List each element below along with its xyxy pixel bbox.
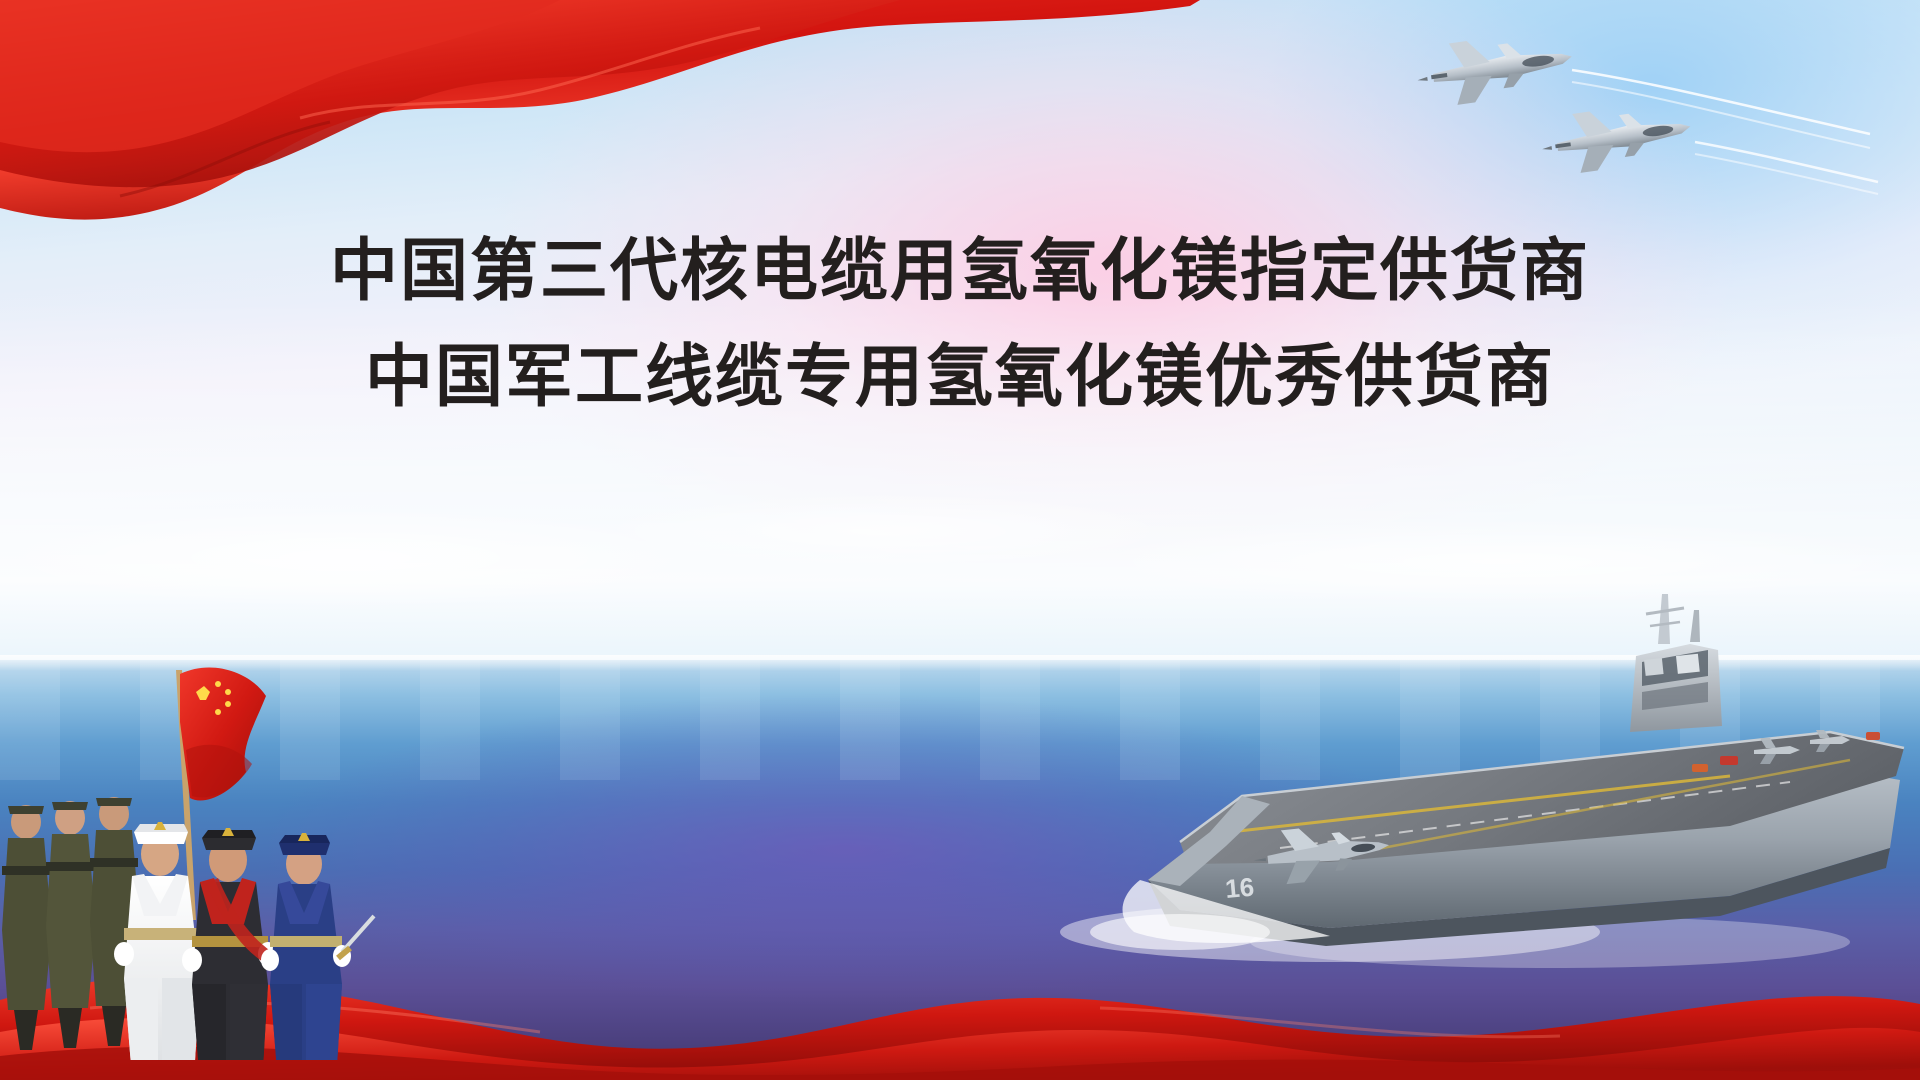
page-subtitle: 中国军工线缆专用氢氧化镁优秀供货商 bbox=[0, 344, 1920, 412]
guard-rear-rank bbox=[2, 797, 140, 1050]
guard-flag-bearer bbox=[182, 828, 278, 1060]
svg-text:16: 16 bbox=[1224, 872, 1255, 904]
honor-guard-formation bbox=[0, 630, 520, 1060]
page-title: 中国第三代核电缆用氢氧化镁指定供货商 bbox=[0, 238, 1920, 306]
fighter-jets bbox=[1400, 30, 1880, 230]
guard-officer-blue bbox=[261, 833, 374, 1060]
jet-1 bbox=[1413, 30, 1576, 110]
red-flag-wave-top bbox=[0, 0, 1200, 260]
title-block: 中国第三代核电缆用氢氧化镁指定供货商 中国军工线缆专用氢氧化镁优秀供货商 bbox=[0, 238, 1920, 412]
promotional-banner: 中国第三代核电缆用氢氧化镁指定供货商 中国军工线缆专用氢氧化镁优秀供货商 bbox=[0, 0, 1920, 1080]
carrier-island bbox=[1630, 594, 1722, 732]
jet-2 bbox=[1538, 98, 1695, 178]
aircraft-carrier: 16 bbox=[1030, 580, 1910, 1000]
